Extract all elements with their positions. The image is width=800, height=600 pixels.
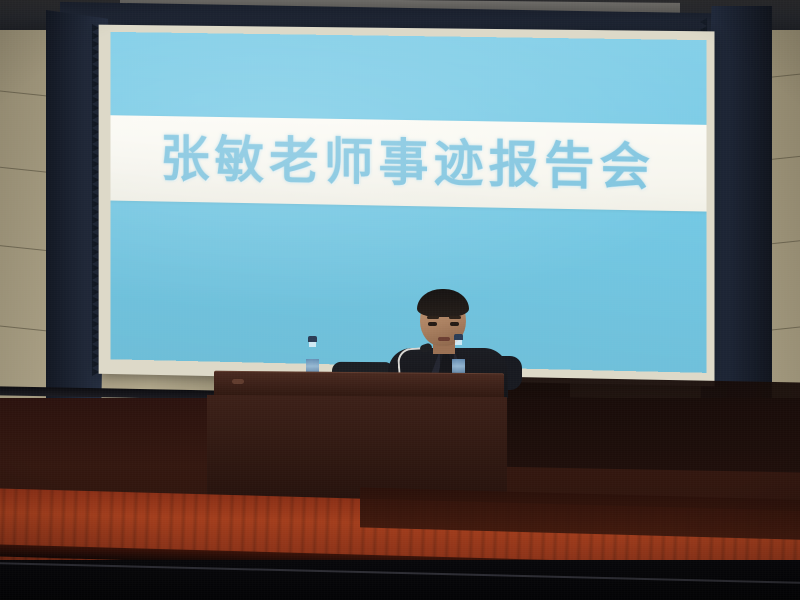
bottle-neck: [309, 342, 316, 347]
speaker-eye-right: [450, 322, 459, 326]
speaker-hair: [417, 289, 469, 317]
speaker-eyebrow-right: [449, 316, 461, 319]
slide-title-text: 张敏老师事迹报告会: [160, 134, 655, 193]
podium-fitting: [232, 379, 244, 384]
slide-title-band: 张敏老师事迹报告会: [110, 115, 706, 211]
speaker-mouth: [438, 337, 450, 341]
speaker-eye-left: [428, 322, 437, 326]
bottle-neck: [455, 340, 462, 345]
auditorium-photo: 张敏老师事迹报告会: [0, 0, 800, 600]
speaker-eyebrow-left: [427, 316, 439, 319]
